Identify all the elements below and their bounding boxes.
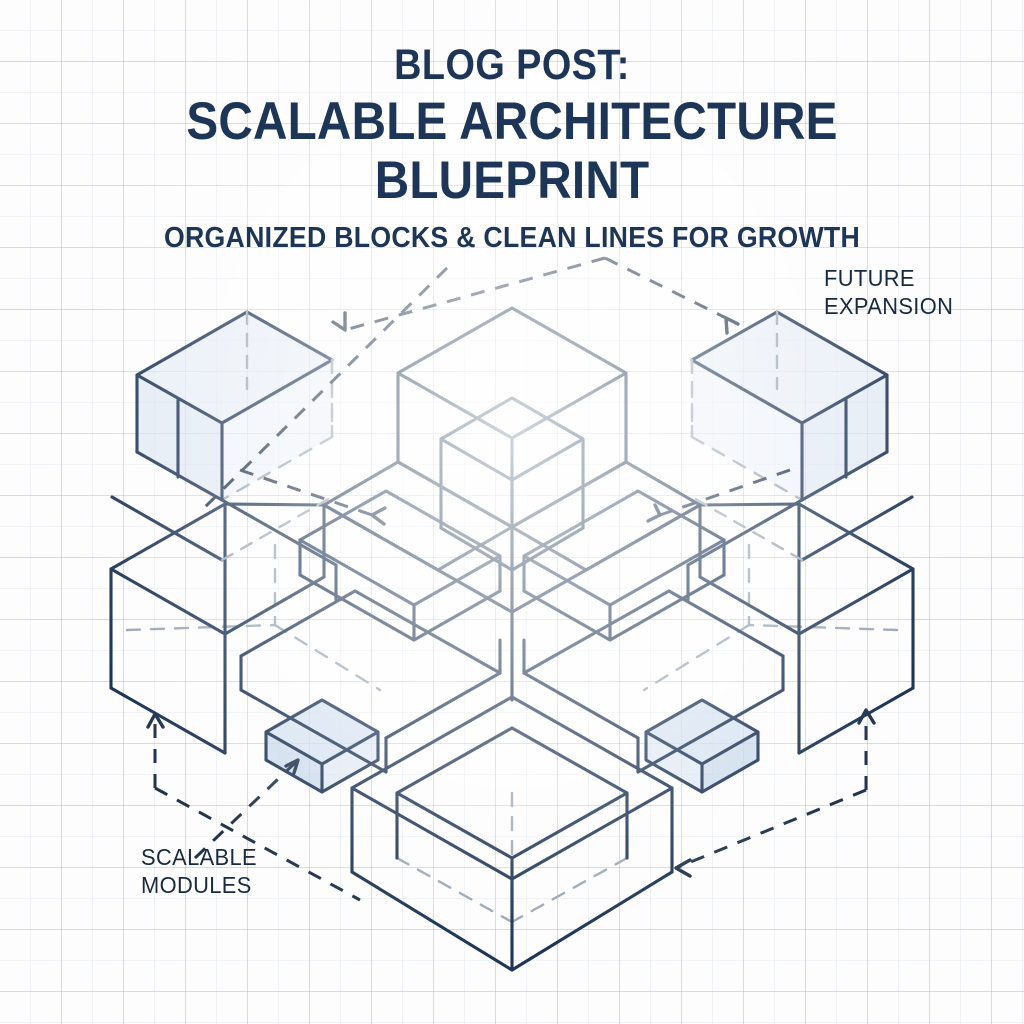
page-title: SCALABLE ARCHITECTURE BLUEPRINT [51,92,973,211]
callout-future-expansion: FUTURE EXPANSION [824,264,953,320]
blueprint-canvas: BLOG POST: SCALABLE ARCHITECTURE BLUEPRI… [0,0,1024,1024]
title-subtitle: ORGANIZED BLOCKS & CLEAN LINES FOR GROWT… [41,221,983,256]
arrow-to-left-ghost [345,258,605,330]
callout-scalable-modules: SCALABLE MODULES [141,843,257,899]
title-kicker: BLOG POST: [61,44,962,88]
arrow-to-right-ghost [605,258,726,318]
arrow-right-down-left [676,790,866,868]
title-block: BLOG POST: SCALABLE ARCHITECTURE BLUEPRI… [0,44,1024,255]
